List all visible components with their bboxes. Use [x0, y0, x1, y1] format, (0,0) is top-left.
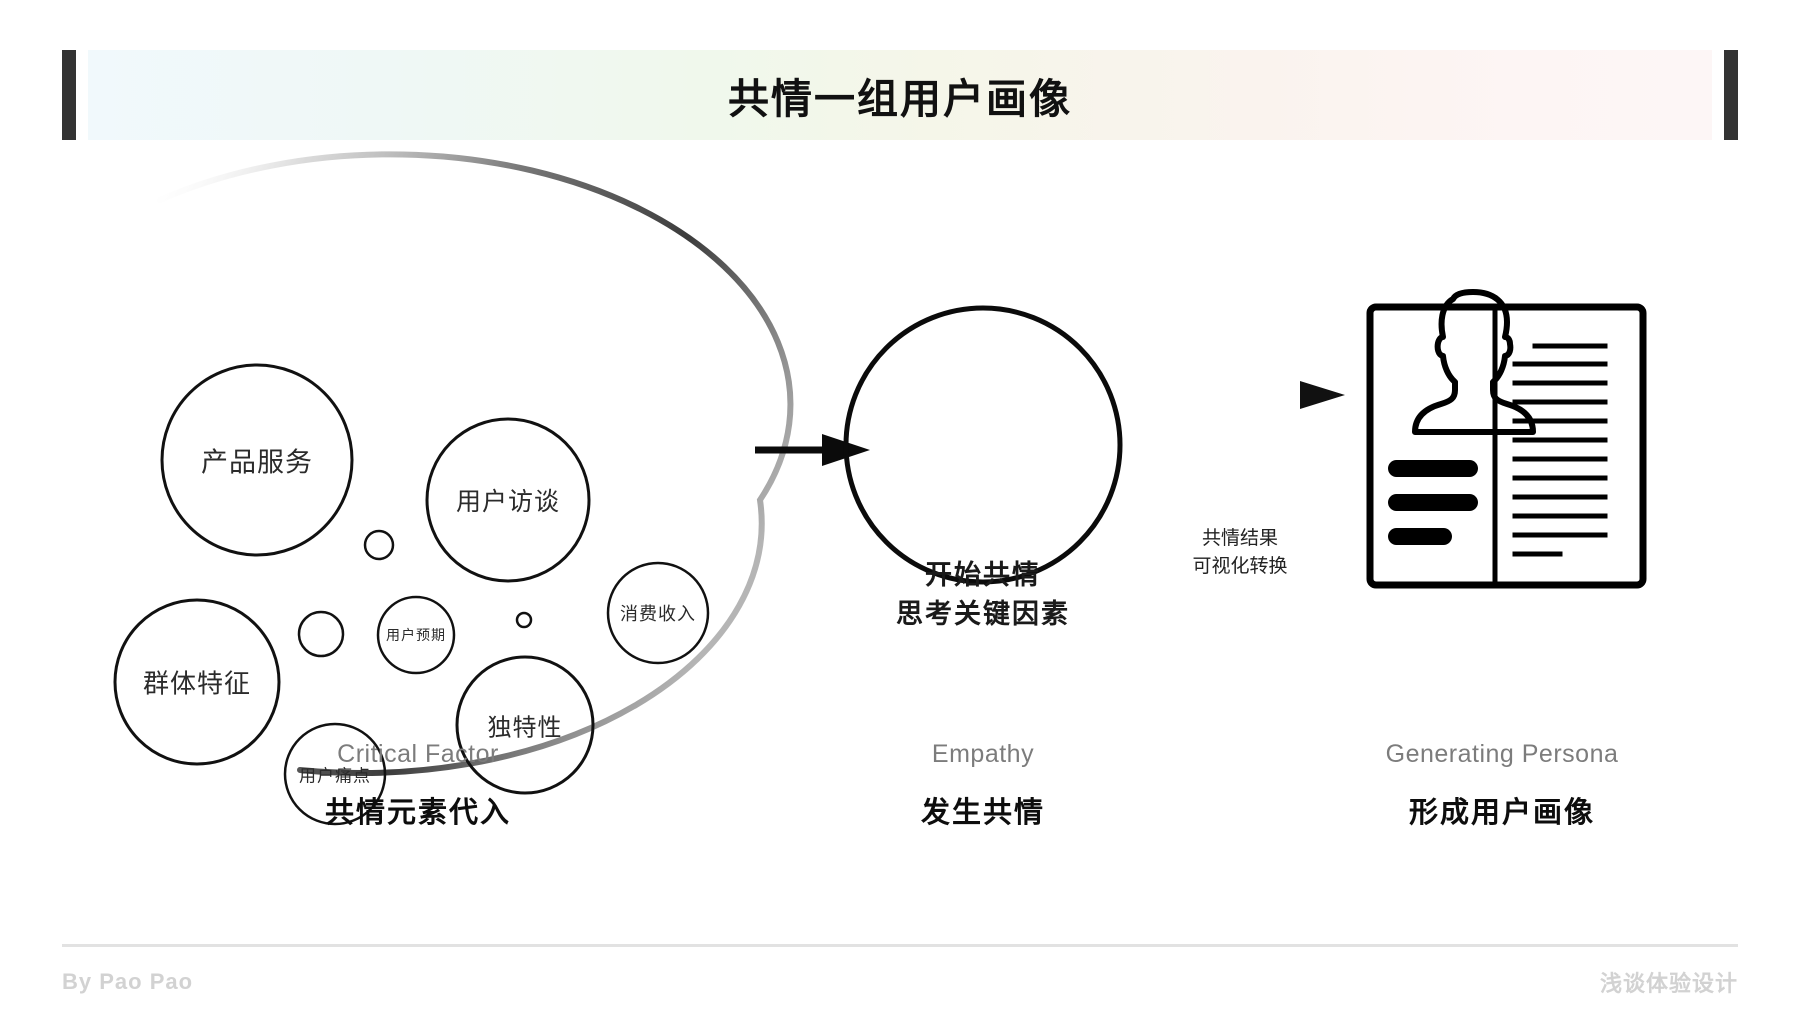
caption-group-generating-persona: Generating Persona 形成用户画像	[1386, 740, 1619, 831]
empathy-line-1: 开始共情	[896, 556, 1070, 595]
caption-zh-empathy: 发生共情	[921, 789, 1045, 831]
caption-zh-critical-factor: 共情元素代入	[325, 789, 511, 831]
bubble-label-user-expectation: 用户预期	[386, 625, 446, 645]
footer-author: By Pao Pao	[62, 969, 193, 995]
empathy-circle	[846, 308, 1120, 582]
footer-brand: 浅谈体验设计	[1600, 966, 1738, 998]
persona-card	[1370, 292, 1643, 585]
stage-captions: Critical Factor 共情元素代入 Empathy 发生共情 Gene…	[0, 740, 1800, 860]
header-accent-bar-right	[1724, 50, 1738, 140]
caption-en-empathy: Empathy	[921, 740, 1045, 769]
caption-en-generating-persona: Generating Persona	[1386, 740, 1619, 769]
arrow-caption-line-1: 共情结果	[1192, 525, 1287, 553]
empathy-circle-text: 开始共情 思考关键因素	[896, 556, 1070, 634]
bubble-label-product-service: 产品服务	[201, 441, 313, 480]
arrow-caption-line-2: 可视化转换	[1192, 553, 1287, 581]
caption-en-critical-factor: Critical Factor	[325, 740, 511, 769]
bubble-label-group-traits: 群体特征	[143, 664, 251, 701]
bubble-circle-empty	[299, 612, 343, 656]
bubble-label-consumption-income: 消费收入	[620, 600, 696, 626]
bubble-label-uniqueness: 独特性	[488, 708, 563, 743]
page-header: 共情一组用户画像	[0, 0, 1800, 150]
caption-group-critical-factor: Critical Factor 共情元素代入	[325, 740, 511, 831]
header-accent-bar-left	[62, 50, 76, 140]
bubble-label-user-interview: 用户访谈	[456, 482, 560, 518]
bubble-circle-empty	[365, 531, 393, 559]
page-footer: By Pao Pao 浅谈体验设计	[62, 962, 1738, 1002]
arrow-caption: 共情结果 可视化转换	[1192, 525, 1287, 580]
bubble-circle-empty	[517, 613, 531, 627]
flow-arrow-1	[755, 434, 870, 466]
page-title: 共情一组用户画像	[88, 50, 1712, 140]
caption-group-empathy: Empathy 发生共情	[921, 740, 1045, 831]
flow-arrow-2	[1140, 381, 1345, 409]
footer-divider	[62, 944, 1738, 947]
empathy-line-2: 思考关键因素	[896, 595, 1070, 634]
caption-zh-generating-persona: 形成用户画像	[1386, 789, 1619, 831]
